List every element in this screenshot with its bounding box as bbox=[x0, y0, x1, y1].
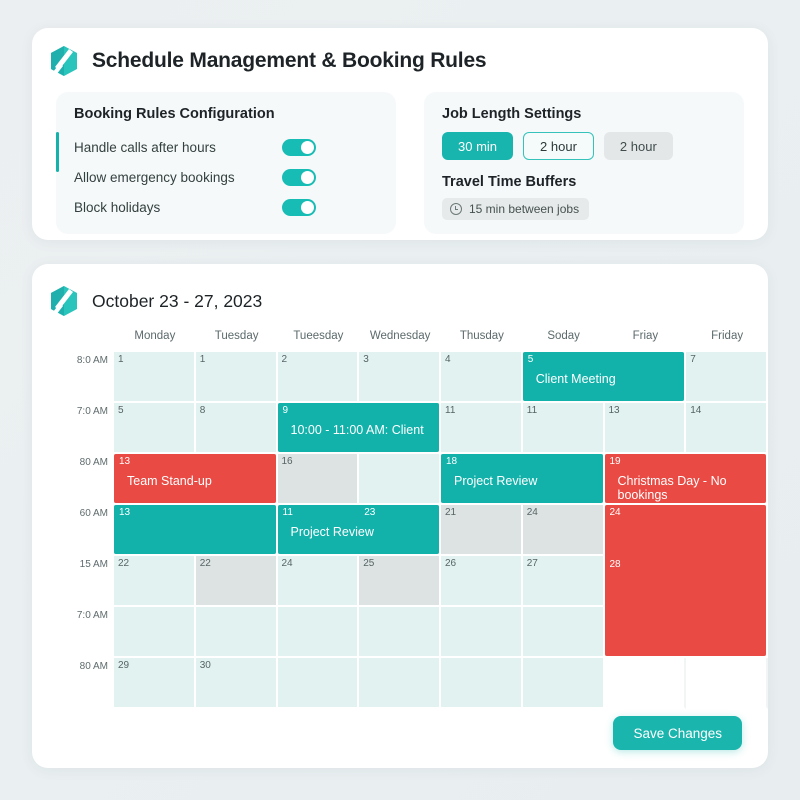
toggle-knob bbox=[301, 171, 314, 184]
event-label: Christmas Day - No bookings bbox=[618, 474, 767, 502]
calendar-cell[interactable]: 26 bbox=[441, 556, 523, 607]
calendar-cell[interactable]: 3 bbox=[359, 352, 441, 403]
day-header-7: Friday bbox=[686, 330, 768, 346]
calendar-cell[interactable] bbox=[114, 607, 196, 658]
calendar-cell[interactable]: 4 bbox=[441, 352, 523, 403]
save-changes-button[interactable]: Save Changes bbox=[613, 716, 742, 750]
day-header-3: Wednesday bbox=[359, 330, 441, 346]
calendar-event[interactable]: 5Client Meeting bbox=[523, 352, 685, 401]
calendar-cell[interactable]: 13 bbox=[605, 403, 687, 454]
calendar-cell[interactable] bbox=[441, 658, 523, 709]
event-day-number: 11 bbox=[283, 507, 293, 518]
rule-row-handle-calls: Handle calls after hours bbox=[74, 132, 378, 162]
toggle-knob bbox=[301, 201, 314, 214]
calendar-cell[interactable] bbox=[441, 607, 523, 658]
cell-day-number: 26 bbox=[445, 558, 456, 569]
event-day-number-secondary: 23 bbox=[364, 507, 375, 518]
cell-day-number: 13 bbox=[609, 405, 620, 416]
travel-buffer-pill[interactable]: 15 min between jobs bbox=[442, 198, 589, 220]
cell-day-number: 11 bbox=[527, 405, 537, 416]
job-length-option-2hour-b[interactable]: 2 hour bbox=[604, 132, 673, 160]
rule-label: Allow emergency bookings bbox=[74, 170, 235, 185]
calendar-date-range: October 23 - 27, 2023 bbox=[92, 291, 262, 312]
booking-rules-panel: Booking Rules Configuration Handle calls… bbox=[56, 92, 396, 234]
time-label-2: 80 AM bbox=[68, 454, 114, 505]
cell-day-number: 22 bbox=[200, 558, 211, 569]
calendar-cell[interactable]: 11 bbox=[441, 403, 523, 454]
calendar-cell[interactable]: 24 bbox=[523, 505, 605, 556]
hexagon-slash-logo-icon bbox=[50, 286, 78, 316]
calendar-cell[interactable] bbox=[523, 658, 605, 709]
calendar-cell[interactable]: 1 bbox=[114, 352, 196, 403]
cell-day-number: 16 bbox=[282, 456, 293, 467]
calendar-cell[interactable]: 22 bbox=[196, 556, 278, 607]
cell-day-number: 7 bbox=[690, 354, 696, 365]
rule-row-emergency-bookings: Allow emergency bookings bbox=[74, 162, 378, 192]
calendar-cell[interactable]: 8 bbox=[196, 403, 278, 454]
calendar-cell[interactable] bbox=[278, 658, 360, 709]
calendar-cell[interactable] bbox=[196, 607, 278, 658]
cell-day-number: 25 bbox=[363, 558, 374, 569]
calendar-cell[interactable] bbox=[359, 607, 441, 658]
day-header-6: Friay bbox=[605, 330, 687, 346]
rule-label: Block holidays bbox=[74, 200, 160, 215]
event-label: Project Review bbox=[291, 525, 374, 539]
cell-day-number: 5 bbox=[118, 405, 124, 416]
day-header-0: Monday bbox=[114, 330, 196, 346]
calendar-event[interactable]: 2428 bbox=[605, 505, 767, 656]
calendar-event[interactable]: 13 bbox=[114, 505, 276, 554]
cell-day-number: 8 bbox=[200, 405, 206, 416]
day-header-5: Soday bbox=[523, 330, 605, 346]
event-label: 10:00 - 11:00 AM: Client bbox=[291, 423, 424, 437]
calendar-day-headers: MondayTuesdayTueesdayWednesdayThusdaySod… bbox=[68, 330, 768, 346]
rule-label: Handle calls after hours bbox=[74, 140, 216, 155]
calendar-cell[interactable]: 22 bbox=[114, 556, 196, 607]
event-day-number: 13 bbox=[119, 507, 130, 518]
calendar-cell[interactable] bbox=[605, 658, 687, 709]
cell-day-number: 11 bbox=[445, 405, 455, 416]
job-length-options: 30 min 2 hour 2 hour bbox=[442, 132, 726, 160]
calendar-event[interactable]: 910:00 - 11:00 AM: Client bbox=[278, 403, 440, 452]
card-header: Schedule Management & Booking Rules bbox=[32, 28, 768, 76]
event-day-number-secondary: 28 bbox=[610, 559, 621, 570]
calendar-cell[interactable]: 11 bbox=[523, 403, 605, 454]
calendar-cell[interactable]: 5 bbox=[114, 403, 196, 454]
calendar-event[interactable]: 18Project Review bbox=[441, 454, 603, 503]
calendar-cell[interactable]: 25 bbox=[359, 556, 441, 607]
event-label: Client Meeting bbox=[536, 372, 616, 386]
event-label: Project Review bbox=[454, 474, 537, 488]
event-day-number: 9 bbox=[283, 405, 289, 416]
calendar-grid-wrap: MondayTuesdayTueesdayWednesdayThusdaySod… bbox=[68, 330, 768, 709]
job-length-option-30min[interactable]: 30 min bbox=[442, 132, 513, 160]
calendar-header: October 23 - 27, 2023 bbox=[32, 264, 768, 316]
day-header-4: Thusday bbox=[441, 330, 523, 346]
job-length-title: Job Length Settings bbox=[442, 106, 726, 122]
cell-day-number: 27 bbox=[527, 558, 538, 569]
travel-buffer-label: 15 min between jobs bbox=[469, 202, 579, 216]
time-label-3: 60 AM bbox=[68, 505, 114, 556]
calendar-cell[interactable]: 29 bbox=[114, 658, 196, 709]
page-title: Schedule Management & Booking Rules bbox=[92, 49, 486, 73]
cell-day-number: 24 bbox=[282, 558, 293, 569]
cell-day-number: 2 bbox=[282, 354, 288, 365]
event-day-number: 13 bbox=[119, 456, 130, 467]
calendar-cell[interactable] bbox=[686, 658, 768, 709]
calendar-cell[interactable]: 30 bbox=[196, 658, 278, 709]
cell-day-number: 3 bbox=[363, 354, 369, 365]
calendar-event[interactable]: 19Christmas Day - No bookings bbox=[605, 454, 767, 503]
calendar-cell[interactable]: 21 bbox=[441, 505, 523, 556]
cell-day-number: 14 bbox=[690, 405, 701, 416]
time-label-1: 7:0 AM bbox=[68, 403, 114, 454]
day-header-1: Tuesday bbox=[196, 330, 278, 346]
rule-row-block-holidays: Block holidays bbox=[74, 192, 378, 222]
calendar-cell[interactable] bbox=[359, 454, 441, 505]
calendar-event[interactable]: 1123Project Review bbox=[278, 505, 440, 554]
job-length-panel: Job Length Settings 30 min 2 hour 2 hour… bbox=[424, 92, 744, 234]
hexagon-slash-logo-icon bbox=[50, 46, 78, 76]
calendar-cell[interactable]: 14 bbox=[686, 403, 768, 454]
toggle-handle-calls-after-hours[interactable] bbox=[282, 139, 316, 156]
event-day-number: 18 bbox=[446, 456, 457, 467]
time-label-6: 80 AM bbox=[68, 658, 114, 709]
event-day-number: 19 bbox=[610, 456, 621, 467]
toggle-allow-emergency-bookings[interactable] bbox=[282, 169, 316, 186]
calendar-cell[interactable] bbox=[523, 607, 605, 658]
calendar-cell[interactable]: 27 bbox=[523, 556, 605, 607]
event-label: Team Stand-up bbox=[127, 474, 212, 488]
calendar-grid[interactable]: 8:0 AM1123477:0 AM581111131480 AM151660 … bbox=[68, 352, 768, 709]
cell-day-number: 29 bbox=[118, 660, 129, 671]
booking-rules-title: Booking Rules Configuration bbox=[74, 106, 378, 122]
cell-day-number: 1 bbox=[118, 354, 124, 365]
toggle-knob bbox=[301, 141, 314, 154]
travel-time-buffers-title: Travel Time Buffers bbox=[442, 174, 726, 190]
calendar-cell[interactable]: 24 bbox=[278, 556, 360, 607]
settings-panels: Booking Rules Configuration Handle calls… bbox=[32, 76, 768, 234]
cell-day-number: 1 bbox=[200, 354, 206, 365]
calendar-cell[interactable] bbox=[278, 607, 360, 658]
calendar-cell[interactable]: 1 bbox=[196, 352, 278, 403]
calendar-cell[interactable]: 7 bbox=[686, 352, 768, 403]
event-day-number: 5 bbox=[528, 354, 534, 365]
calendar-cell[interactable]: 2 bbox=[278, 352, 360, 403]
accent-bar bbox=[56, 132, 59, 172]
day-header-spacer bbox=[68, 330, 114, 346]
cell-day-number: 22 bbox=[118, 558, 129, 569]
event-day-number: 24 bbox=[610, 507, 621, 518]
settings-card: Schedule Management & Booking Rules Book… bbox=[32, 28, 768, 240]
cell-day-number: 30 bbox=[200, 660, 211, 671]
day-header-2: Tueesday bbox=[278, 330, 360, 346]
calendar-cell[interactable]: 16 bbox=[278, 454, 360, 505]
clock-icon bbox=[450, 203, 462, 215]
calendar-event[interactable]: 13Team Stand-up bbox=[114, 454, 276, 503]
cell-day-number: 21 bbox=[445, 507, 456, 518]
toggle-block-holidays[interactable] bbox=[282, 199, 316, 216]
time-label-4: 15 AM bbox=[68, 556, 114, 607]
time-label-5: 7:0 AM bbox=[68, 607, 114, 658]
cell-day-number: 24 bbox=[527, 507, 538, 518]
calendar-cell[interactable] bbox=[359, 658, 441, 709]
job-length-option-2hour-a[interactable]: 2 hour bbox=[523, 132, 594, 160]
calendar-card: October 23 - 27, 2023 MondayTuesdayTuees… bbox=[32, 264, 768, 768]
time-label-0: 8:0 AM bbox=[68, 352, 114, 403]
cell-day-number: 4 bbox=[445, 354, 451, 365]
